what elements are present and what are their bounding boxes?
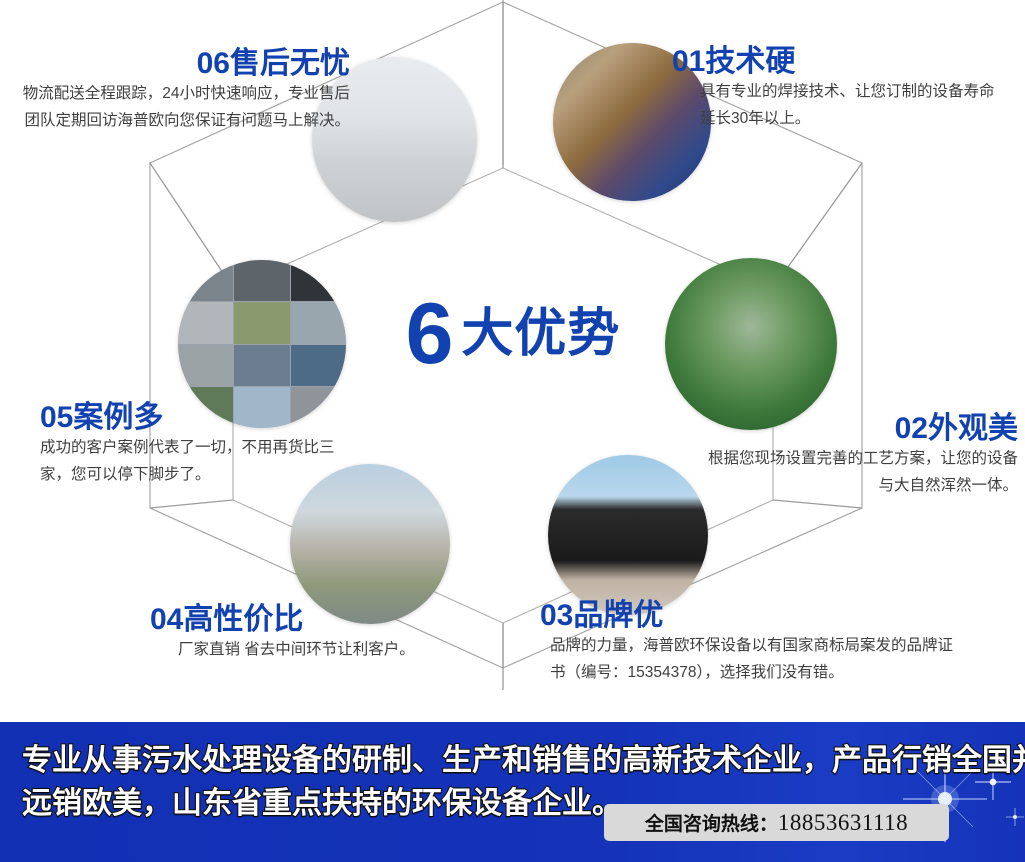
advantage-03-body: 品牌的力量，海普欧环保设备以有国家商标局案发的品牌证书（编号：15354378）…	[540, 632, 960, 686]
hex-spoke-ll	[150, 500, 233, 508]
advantage-04-body: 厂家直销 省去中间环节让利客户。	[150, 636, 480, 663]
advantage-03-heading: 03品牌优	[540, 600, 960, 632]
advantage-05-heading: 05案例多	[40, 402, 340, 434]
advantage-02-heading: 02外观美	[700, 413, 1018, 445]
advantage-06: 06售后无忧 物流配送全程跟踪，24小时快速响应，专业售后团队定期回访海普欧向您…	[20, 48, 350, 134]
center-label: 6 大优势	[383, 288, 643, 380]
banner-line-1: 专业从事污水处理设备的研制、生产和销售的高新技术企业，产品行销全国并	[22, 740, 922, 783]
center-number: 6	[406, 291, 452, 377]
advantage-01: 01技术硬 具有专业的焊接技术、让您订制的设备寿命延长30年以上。	[672, 46, 1002, 132]
hex-spoke-lower-right	[773, 500, 862, 508]
advantage-05-body: 成功的客户案例代表了一切，不用再货比三家，您可以停下脚步了。	[40, 434, 340, 488]
advantage-02: 02外观美 根据您现场设置完善的工艺方案，让您的设备与大自然浑然一体。	[700, 413, 1018, 499]
advantage-03: 03品牌优 品牌的力量，海普欧环保设备以有国家商标局案发的品牌证书（编号：153…	[540, 600, 960, 686]
hex-spoke-lower-left	[150, 500, 233, 508]
advantage-06-heading: 06售后无忧	[20, 48, 350, 80]
hex-spoke-lr	[773, 500, 862, 508]
bottom-banner: 专业从事污水处理设备的研制、生产和销售的高新技术企业，产品行销全国并 远销欧美，…	[0, 722, 1025, 862]
infographic-root: 6 大优势 06售后无忧 物流配送全程跟踪，24小时快速响应，专业售后团队定期回…	[0, 0, 1025, 862]
equipment-with-trademark-seal-photo	[548, 455, 708, 615]
advantage-06-body: 物流配送全程跟踪，24小时快速响应，专业售后团队定期回访海普欧向您保证有问题马上…	[20, 80, 350, 134]
advantage-02-body: 根据您现场设置完善的工艺方案，让您的设备与大自然浑然一体。	[700, 445, 1018, 499]
advantage-04: 04高性价比 厂家直销 省去中间环节让利客户。	[150, 604, 480, 663]
advantage-01-body: 具有专业的焊接技术、让您订制的设备寿命延长30年以上。	[672, 78, 1002, 132]
aerial-wastewater-plant-photo	[665, 258, 837, 430]
advantage-01-heading: 01技术硬	[672, 46, 1002, 78]
factory-gate-photo	[290, 464, 450, 624]
hotline-badge[interactable]: 全国咨询热线：18853631118	[604, 804, 949, 841]
advantage-04-heading: 04高性价比	[150, 604, 480, 636]
advantage-05: 05案例多 成功的客户案例代表了一切，不用再货比三家，您可以停下脚步了。	[40, 402, 340, 488]
hotline-number: 18853631118	[778, 810, 908, 835]
hotline-label-text: 全国咨询热线：	[645, 814, 778, 835]
center-title: 大优势	[461, 308, 620, 360]
hotline-label: 全国咨询热线：18853631118	[645, 809, 908, 836]
